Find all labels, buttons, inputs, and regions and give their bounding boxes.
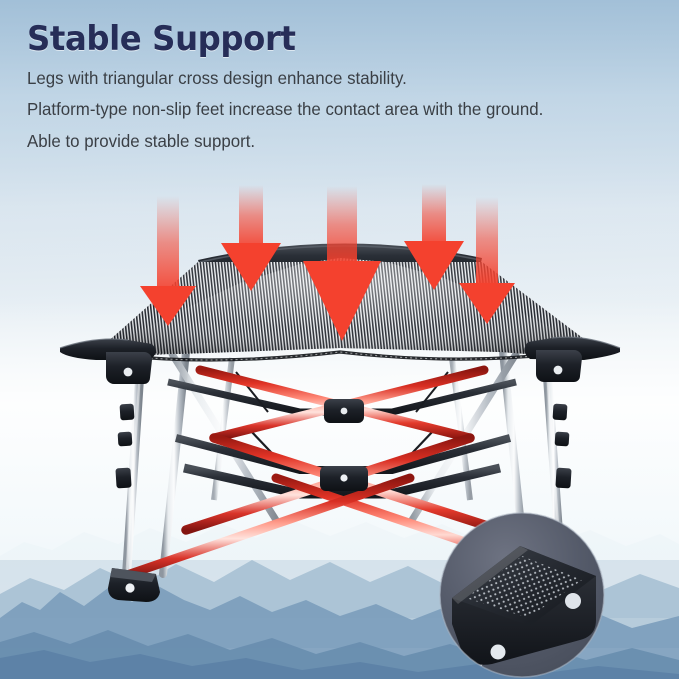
- page-title: Stable Support: [27, 22, 635, 58]
- leg-joint-sleeves: [115, 404, 571, 489]
- feature-line-1: Legs with triangular cross design enhanc…: [27, 70, 645, 88]
- down-arrow-icon-4: [404, 184, 464, 290]
- down-arrow-icon-2: [221, 185, 281, 291]
- feature-line-3: Able to provide stable support.: [27, 133, 645, 151]
- feature-header: Stable Support Legs with triangular cros…: [27, 22, 667, 164]
- cot-fabric-surface: [90, 250, 600, 370]
- down-arrow-icon-1: [140, 196, 196, 326]
- cot-corner-brackets: [60, 337, 620, 384]
- down-arrow-icon-3: [303, 186, 381, 341]
- cot-support-rails: [168, 372, 516, 494]
- mountain-range-foreground: [0, 612, 679, 679]
- product-feature-banner: Stable Support Legs with triangular cros…: [0, 0, 679, 679]
- feature-line-2: Platform-type non-slip feet increase the…: [27, 101, 645, 119]
- cot-rear-bar: [198, 243, 482, 278]
- down-arrow-icon-5: [459, 197, 515, 324]
